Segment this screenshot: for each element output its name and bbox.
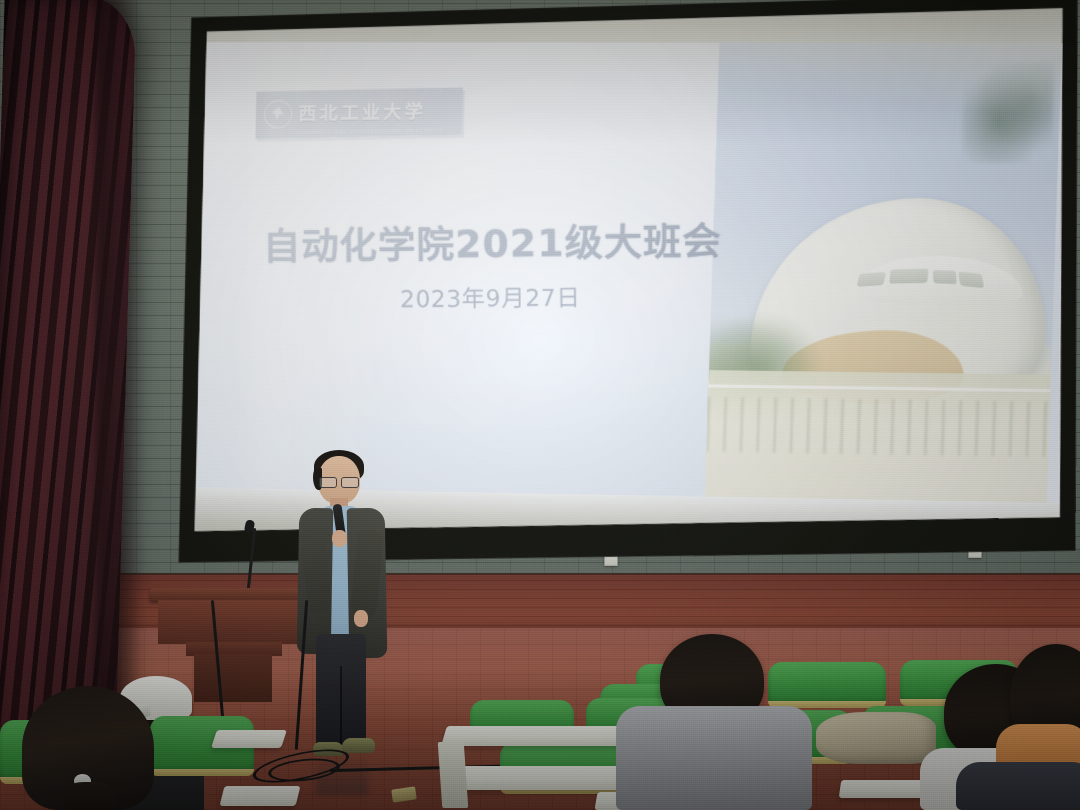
seat-desk (220, 786, 301, 806)
speaker-shoe-right (342, 738, 375, 753)
student-ponytail-tail (62, 782, 116, 810)
speaker-hand-resting (354, 610, 368, 627)
photo-fence (707, 397, 1051, 457)
stage-curtain-shadow (96, 0, 142, 760)
speaker-presenter (292, 452, 398, 768)
speaker-hand-holding-mic (332, 530, 347, 547)
photo-tree-top-right (962, 61, 1055, 162)
cockpit-window-4 (959, 272, 986, 289)
speaker-glasses (319, 477, 359, 486)
presentation-slide: 西北工业大学 NORTHWESTERN POLYTECHNICAL UNIVER… (197, 42, 1062, 503)
speaker-leg-separation (340, 666, 342, 746)
student-grey-sweater (616, 706, 812, 810)
auditorium-photo: 西北工业大学 NORTHWESTERN POLYTECHNICAL UNIVER… (0, 0, 1080, 810)
cockpit-window-1 (857, 272, 887, 287)
lectern-base (194, 654, 272, 702)
student-dark-sweater (956, 762, 1080, 810)
slide-photo-panel (705, 43, 1062, 503)
slide-title: 自动化学院2021级大班会 (245, 210, 740, 271)
seat-desk (441, 726, 627, 746)
seat-back (768, 662, 886, 704)
slide-subtitle: 2023年9月27日 (245, 276, 740, 315)
cockpit-window-3 (933, 270, 957, 285)
university-emblem-icon (264, 100, 293, 129)
university-name-cn: 西北工业大学 (298, 102, 426, 123)
seat-desk (211, 730, 287, 748)
cockpit-window-2 (890, 268, 930, 283)
seat-desk-edge (438, 742, 469, 808)
folded-beige-jacket (816, 712, 936, 764)
university-name-en: NORTHWESTERN POLYTECHNICAL UNIVERSITY (296, 127, 444, 135)
lectern-body (158, 600, 312, 644)
university-logo-banner: 西北工业大学 NORTHWESTERN POLYTECHNICAL UNIVER… (255, 87, 462, 138)
